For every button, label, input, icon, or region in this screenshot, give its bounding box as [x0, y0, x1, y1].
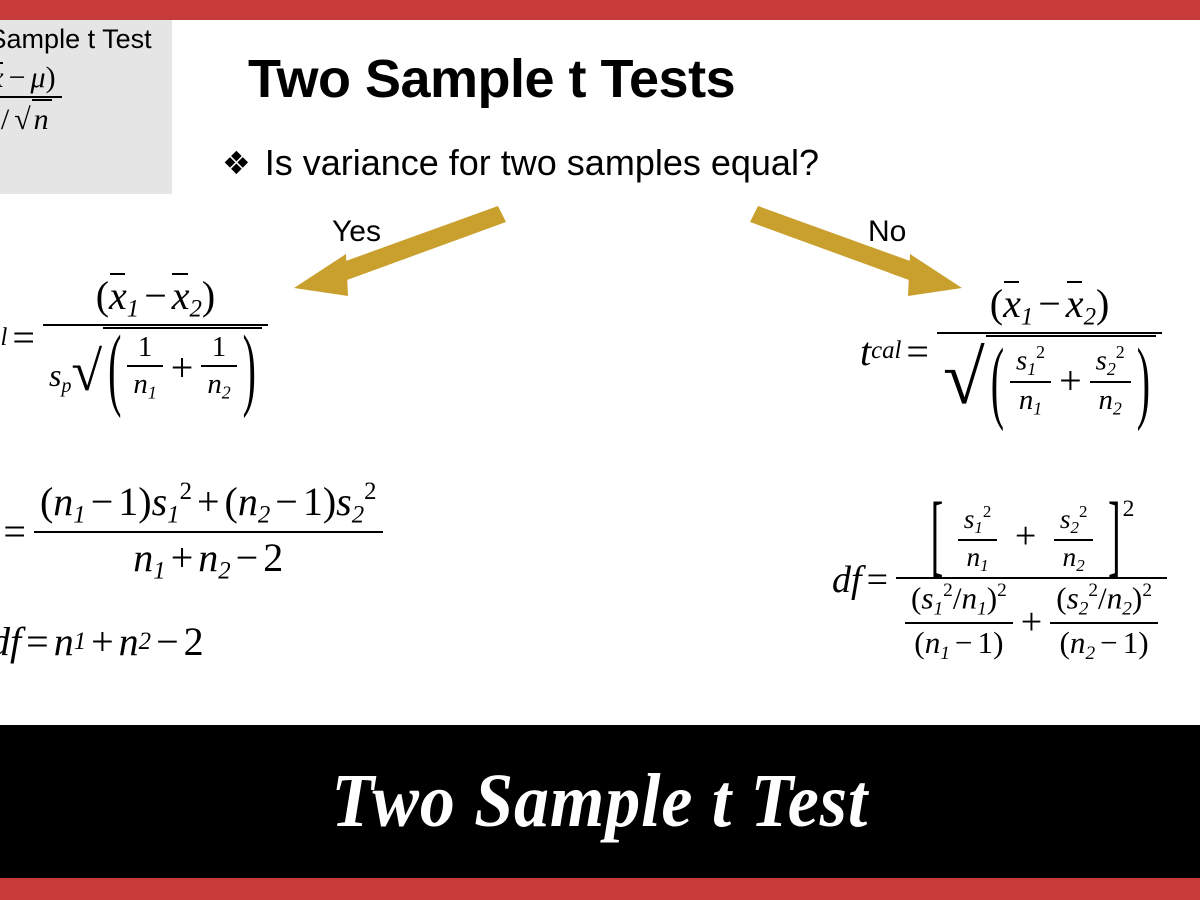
formula-yes-pooled-variance: sp2 = (n1−1)s12+(n2−1)s22 n1+n2−2: [0, 478, 386, 585]
yes-df-lhs: df: [0, 618, 21, 665]
arrow-yes-icon: [288, 200, 508, 300]
no-df-numerator: [ s12 n1 + s22 n2 ]2: [923, 496, 1141, 577]
yes-sp-fraction: (n1−1)s12+(n2−1)s22 n1+n2−2: [34, 478, 383, 585]
yes-t-f1-num: 1: [132, 331, 158, 365]
no-t-numerator: (x1−x2): [984, 280, 1116, 332]
one-sample-t-test-panel: One Sample t Test t = (x−μ) s/ √ n: [0, 20, 172, 194]
yes-t-inner-rparen: ): [243, 314, 256, 422]
no-df-denominator: (s12/n1)2 (n1−1) + (s22/n2)2 (n2−1): [896, 579, 1167, 664]
diamond-bullet-icon: ❖: [222, 147, 251, 179]
no-t-f2: s22 n2: [1090, 342, 1131, 419]
panel-rparen: ): [46, 61, 56, 94]
yes-t-radical: √ ( 1 n1 + 1 n2: [71, 327, 262, 403]
formula-yes-degrees-of-freedom: df = n1+n2−2: [0, 618, 204, 665]
slide-canvas: One Sample t Test t = (x−μ) s/ √ n: [0, 0, 1200, 900]
no-df-lhs: df: [832, 558, 862, 602]
yes-t-sub1: 1: [127, 295, 139, 322]
one-sample-t-formula: t = (x−μ) s/ √ n: [0, 61, 172, 137]
no-t-f1: s12 n1: [1010, 342, 1051, 419]
no-df-d-f1: (s12/n1)2 (n1−1): [905, 580, 1013, 664]
panel-slash: /: [1, 103, 9, 136]
panel-numerator: (x−μ): [0, 61, 62, 96]
panel-radical: √ n: [14, 99, 51, 137]
yes-t-minus: −: [144, 273, 167, 318]
yes-t-fraction: (x1−x2) sp √ ( 1 n1: [43, 272, 268, 404]
yes-sp-denominator: n1+n2−2: [127, 533, 289, 585]
yes-t-equals: =: [12, 314, 35, 361]
yes-t-f2-num: 1: [206, 331, 232, 365]
page-title: Two Sample t Tests: [248, 48, 735, 110]
formula-no-degrees-of-freedom: df = [ s12 n1 + s22 n2 ]2: [832, 496, 1200, 664]
yes-sp-sub: p: [61, 375, 71, 397]
one-sample-panel-title: One Sample t Test: [0, 24, 172, 55]
panel-fraction: (x−μ) s/ √ n: [0, 61, 62, 137]
no-t-denominator: √ ( s12 n1 + s22: [937, 334, 1162, 422]
no-t-equals: =: [906, 328, 929, 375]
yes-t-f2-den: n2: [201, 367, 236, 403]
yes-sp-s: s: [49, 357, 61, 393]
top-accent-bar: [0, 0, 1200, 20]
yes-sp-equals: =: [3, 508, 26, 555]
footer-title: Two Sample t Test: [332, 758, 869, 845]
bottom-accent-bar: [0, 878, 1200, 900]
yes-df-equals: =: [26, 618, 49, 665]
formula-no-t-statistic: tcal = (x1−x2) √ ( s12 n1: [860, 280, 1165, 422]
panel-denominator: s/ √ n: [0, 98, 58, 137]
yes-t-lhs-sub: cal: [0, 324, 7, 352]
yes-t-f1-den: n1: [127, 367, 162, 403]
panel-mu: μ: [31, 61, 46, 94]
yes-t-lparen: (: [96, 273, 109, 318]
panel-minus: −: [9, 61, 26, 94]
footer-banner: Two Sample t Test: [0, 725, 1200, 878]
radical-sign-icon: √: [14, 99, 31, 137]
yes-sp-numerator: (n1−1)s12+(n2−1)s22: [34, 478, 383, 531]
yes-t-f2: 1 n2: [201, 331, 236, 403]
no-df-d-f2: (s22/n2)2 (n2−1): [1050, 580, 1158, 664]
no-t-lhs-sub: cal: [871, 337, 901, 365]
yes-t-rparen: ): [202, 273, 215, 318]
panel-xbar: x: [0, 61, 4, 95]
panel-n: n: [34, 103, 49, 137]
no-df-n-f2: s22 n2: [1054, 502, 1094, 576]
no-df-fraction: [ s12 n1 + s22 n2 ]2: [896, 496, 1167, 664]
yes-t-denominator: sp √ ( 1 n1 + 1: [43, 326, 268, 403]
yes-t-f1: 1 n1: [127, 331, 162, 403]
yes-t-xbar1: x: [109, 272, 127, 319]
question-bullet-row: ❖ Is variance for two samples equal?: [222, 142, 819, 184]
yes-t-xbar2: x: [172, 272, 190, 319]
yes-t-inner-plus: +: [171, 344, 194, 391]
yes-t-sub2: 2: [190, 295, 202, 322]
no-t-lhs: t: [860, 328, 871, 375]
yes-t-inner-lparen: (: [108, 314, 121, 422]
radical-sign-icon: √: [943, 335, 986, 422]
radical-sign-icon: √: [71, 327, 103, 403]
no-t-fraction: (x1−x2) √ ( s12 n1 +: [937, 280, 1162, 422]
formula-yes-t-statistic: tcal = (x1−x2) sp √ ( 1: [0, 272, 271, 404]
question-text: Is variance for two samples equal?: [265, 142, 819, 184]
no-t-radical: √ ( s12 n1 + s22: [943, 335, 1156, 422]
no-df-n-f1: s12 n1: [958, 502, 998, 576]
no-df-equals: =: [867, 558, 888, 602]
